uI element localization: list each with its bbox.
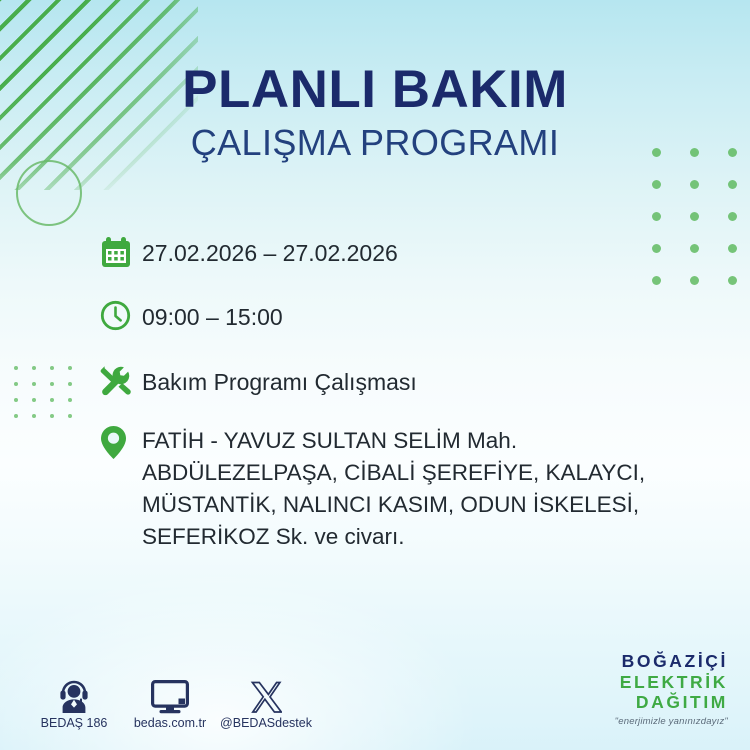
- channel-label: bedas.com.tr: [134, 716, 206, 730]
- company-logo: BOĞAZİÇİ ELEKTRİK DAĞITIM "enerjimizle y…: [615, 653, 728, 726]
- dot-grid-left-decoration: [14, 366, 86, 430]
- monitor-icon: [122, 670, 218, 714]
- x-twitter-icon: [218, 670, 314, 714]
- detail-row-address: FATİH - YAVUZ SULTAN SELİM Mah. ABDÜLEZE…: [100, 423, 704, 553]
- channel-x-twitter[interactable]: @BEDASdestek: [218, 670, 314, 732]
- calendar-icon: [100, 236, 142, 274]
- detail-row-date: 27.02.2026 – 27.02.2026: [100, 236, 704, 274]
- logo-line-elektrik: ELEKTRİK: [615, 674, 728, 692]
- work-type-value: Bakım Programı Çalışması: [142, 365, 417, 397]
- channel-call-center[interactable]: BEDAŞ 186: [26, 670, 122, 732]
- tools-icon: [100, 365, 142, 403]
- channel-label: @BEDASdestek: [220, 716, 312, 730]
- contact-channels: BEDAŞ 186 bedas.com.tr: [26, 670, 314, 732]
- notice-details: 27.02.2026 – 27.02.2026 09:00 – 15:00: [100, 236, 704, 575]
- poster-header: PLANLI BAKIM ÇALIŞMA PROGRAMI: [0, 62, 750, 163]
- channel-website[interactable]: bedas.com.tr: [122, 670, 218, 732]
- detail-row-time: 09:00 – 15:00: [100, 300, 704, 338]
- location-pin-icon: [100, 423, 142, 463]
- poster-footer: BEDAŞ 186 bedas.com.tr: [0, 650, 750, 732]
- address-value: FATİH - YAVUZ SULTAN SELİM Mah. ABDÜLEZE…: [142, 423, 704, 553]
- call-center-agent-icon: [26, 670, 122, 714]
- page-subtitle: ÇALIŞMA PROGRAMI: [0, 123, 750, 163]
- channel-label: BEDAŞ 186: [41, 716, 108, 730]
- logo-line-dagitim: DAĞITIM: [615, 694, 728, 712]
- time-range-value: 09:00 – 15:00: [142, 300, 283, 332]
- circle-outline-decoration: [16, 160, 82, 226]
- planned-maintenance-notice: PLANLI BAKIM ÇALIŞMA PROGRAMI: [0, 0, 750, 750]
- logo-slogan: "enerjimizle yanınızdayız": [615, 717, 728, 727]
- detail-row-work-type: Bakım Programı Çalışması: [100, 365, 704, 403]
- page-title: PLANLI BAKIM: [0, 62, 750, 117]
- logo-line-bogazici: BOĞAZİÇİ: [615, 653, 728, 671]
- clock-icon: [100, 300, 142, 338]
- date-range-value: 27.02.2026 – 27.02.2026: [142, 236, 398, 268]
